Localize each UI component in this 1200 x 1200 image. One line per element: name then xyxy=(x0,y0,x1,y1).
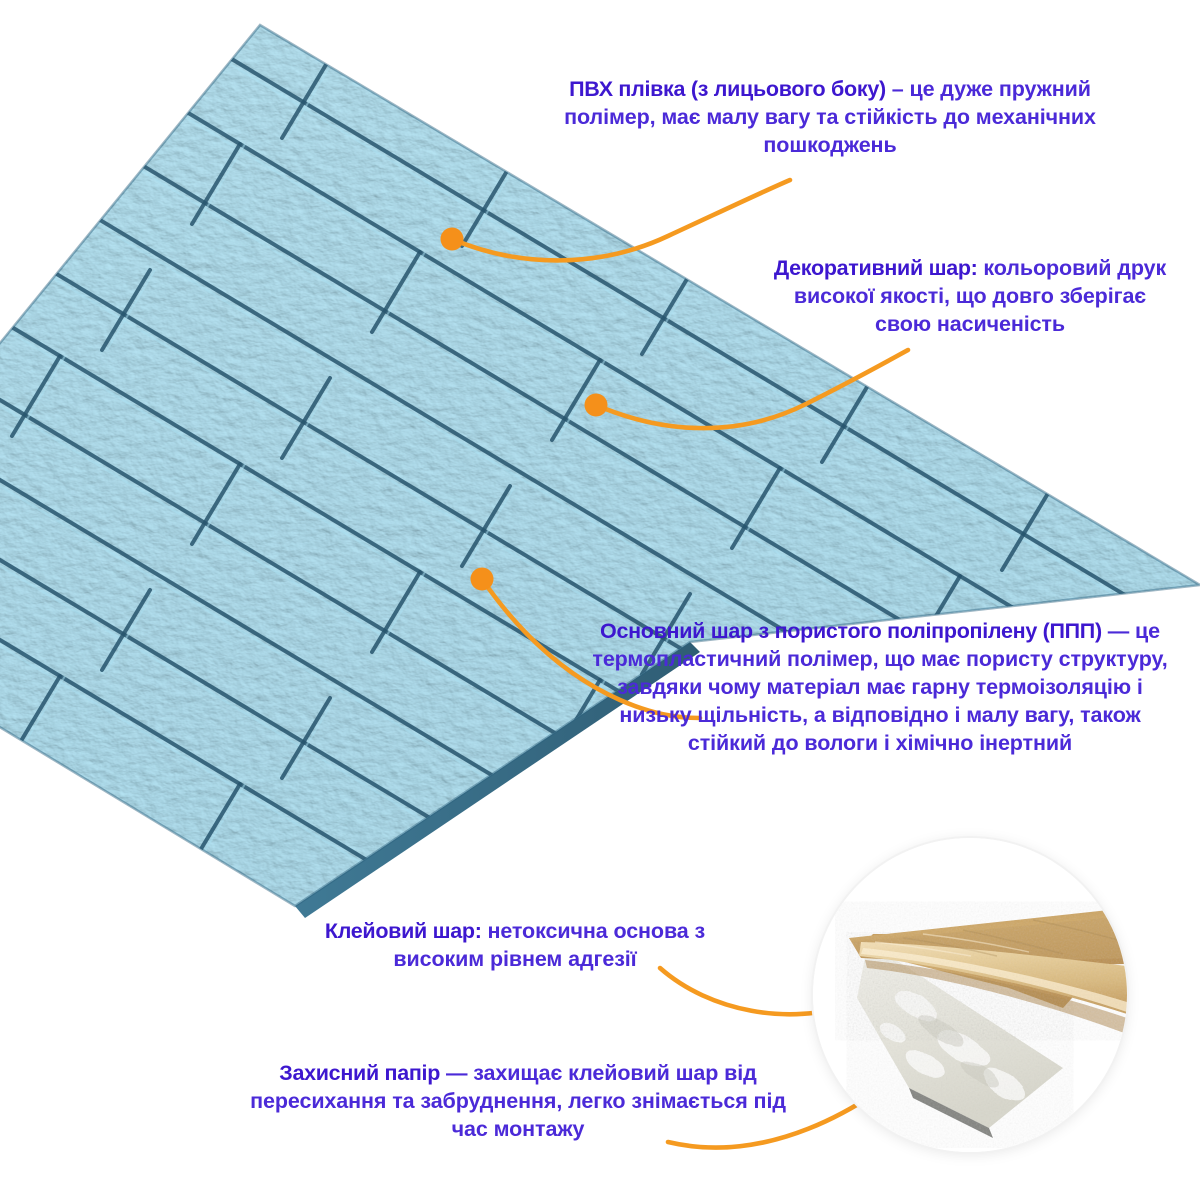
anchor-dot-decor xyxy=(585,394,608,417)
callout-ppp: Основний шар з пористого поліпропілену (… xyxy=(580,618,1180,758)
callout-glue-title: Клейовий шар: xyxy=(325,919,482,943)
anchor-dot-ppp xyxy=(471,568,494,591)
leader-line-pvc xyxy=(452,180,790,260)
callout-ppp-title: Основний шар з пористого поліпропілену (… xyxy=(600,619,1102,643)
callout-glue: Клейовий шар: нетоксична основа з високи… xyxy=(300,918,730,974)
protective-paper-photo-inset xyxy=(813,838,1127,1152)
infographic-canvas: ПВХ плівка (з лицьового боку) – це дуже … xyxy=(0,0,1200,1200)
callout-decor: Декоративний шар: кольоровий друк високо… xyxy=(770,255,1170,339)
callout-paper-title: Захисний папір xyxy=(279,1061,440,1085)
callout-pvc: ПВХ плівка (з лицьового боку) – це дуже … xyxy=(560,76,1100,160)
callout-decor-title: Декоративний шар: xyxy=(774,256,978,280)
callout-paper: Захисний папір — захищає клейовий шар ві… xyxy=(248,1060,788,1144)
callout-pvc-title: ПВХ плівка (з лицьового боку) xyxy=(569,77,886,101)
anchor-dot-pvc xyxy=(441,228,464,251)
leader-line-decor xyxy=(596,350,908,428)
